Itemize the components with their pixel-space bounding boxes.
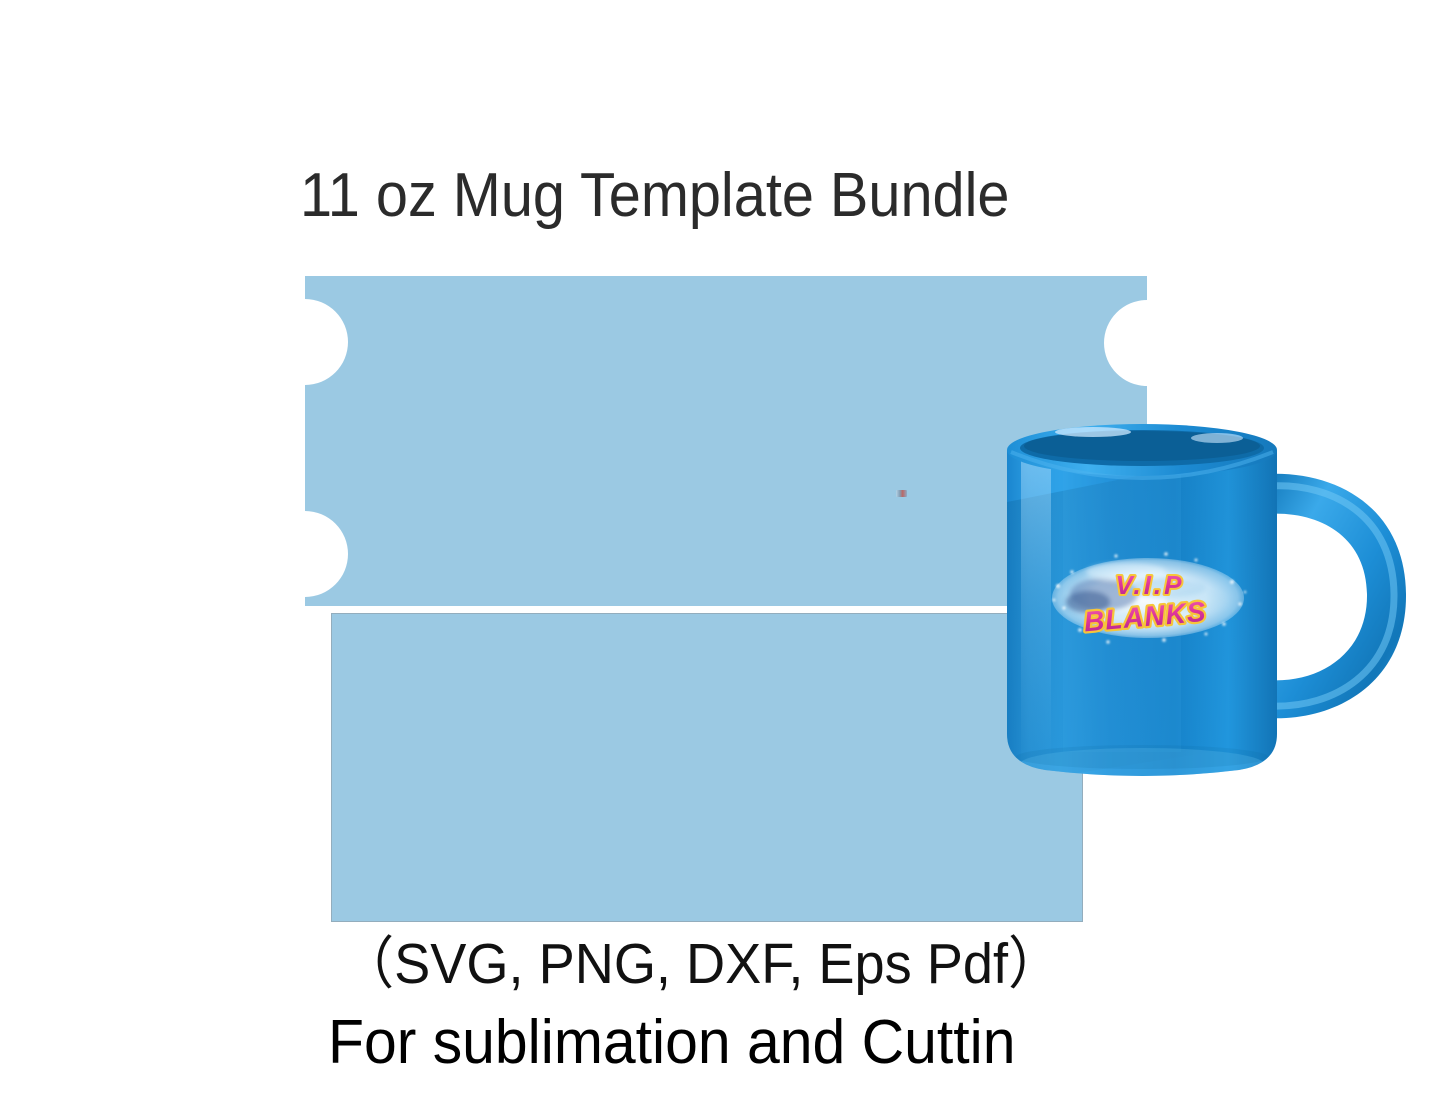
mug-handle-icon <box>1265 474 1406 719</box>
mug-wrap-template-bottom <box>331 613 1083 922</box>
page-title: 11 oz Mug Template Bundle <box>300 160 1137 232</box>
caption-file-formats: （SVG, PNG, DXF, Eps Pdf） <box>340 930 1157 998</box>
mug-illustration <box>985 412 1415 797</box>
mug-body-icon <box>1007 448 1277 784</box>
mug-icon <box>985 412 1415 797</box>
image-artifact-speck <box>896 490 907 497</box>
product-mockup-canvas: 11 oz Mug Template Bundle <box>0 0 1445 1117</box>
caption-block: （SVG, PNG, DXF, Eps Pdf） For sublimation… <box>340 930 1200 1080</box>
caption-usage: For sublimation and Cuttin <box>328 1006 1156 1080</box>
